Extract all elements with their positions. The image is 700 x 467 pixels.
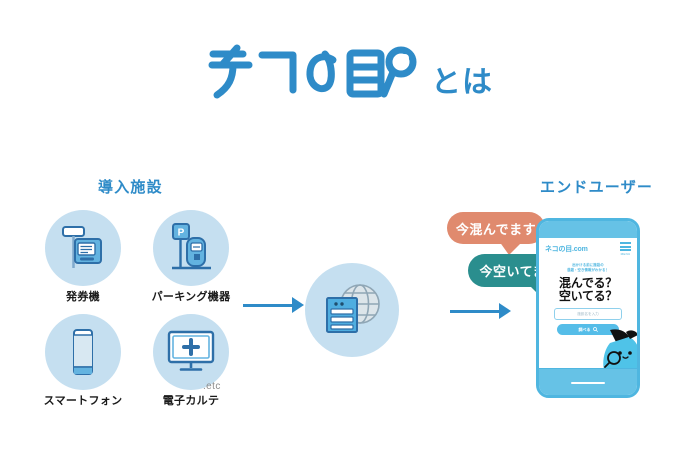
phone-search-button-label: 調べる	[579, 327, 591, 333]
etc-label: .etc	[203, 381, 221, 392]
facility-icon-row: 発券機 P パーキング機器	[38, 210, 238, 304]
speech-bubble-busy: 今混んでます	[447, 212, 545, 244]
infographic-canvas: とは 導入施設 発券機	[0, 0, 700, 467]
facility-icon-row: スマートフォン 電子カルテ	[38, 314, 238, 408]
left-section-heading: 導入施設	[98, 176, 163, 197]
arrow-head	[292, 297, 304, 313]
server-disc	[305, 263, 399, 357]
arrow-shaft	[450, 310, 500, 313]
arrow-right-icon-1	[243, 297, 304, 313]
icon-disc	[153, 314, 229, 390]
smartphone-icon	[66, 327, 100, 377]
svg-text:P: P	[178, 228, 185, 239]
facility-item-ticket-machine[interactable]: 発券機	[38, 210, 128, 304]
icon-disc	[45, 210, 121, 286]
phone-home-bar-area	[539, 368, 637, 396]
ticket-machine-icon	[59, 223, 107, 273]
phone-micro-copy-line2: 混雑・空き情報がわかる！	[539, 268, 637, 273]
right-section-heading: エンドユーザー	[540, 176, 653, 197]
facility-item-smartphone[interactable]: スマートフォン	[38, 314, 128, 408]
neko-no-me-logo	[207, 46, 417, 102]
facility-item-label: 発券機	[66, 288, 100, 304]
facility-item-label: スマートフォン	[44, 392, 123, 408]
cat-mascot-icon	[596, 328, 637, 368]
arrow-shaft	[243, 304, 293, 307]
phone-headline: 混んでる？ 空いてる？	[539, 277, 637, 304]
phone-screen: ネコの目.com MENU 出かける前に施設の 混雑・空き情報がわかる！ 混んで…	[539, 238, 637, 368]
neko-no-me-logo-icon	[207, 44, 417, 102]
phone-search-input[interactable]: 施設名を入力	[554, 308, 622, 320]
speech-bubble-busy-text: 今混んでます	[456, 219, 536, 238]
home-indicator	[571, 382, 605, 384]
arrow-right-icon-2	[450, 303, 511, 319]
phone-headline-line2: 空いてる？	[539, 290, 637, 303]
phone-status-bar	[539, 221, 637, 238]
smartphone-mockup: ネコの目.com MENU 出かける前に施設の 混雑・空き情報がわかる！ 混んで…	[536, 218, 640, 398]
icon-disc	[45, 314, 121, 390]
page-title: とは	[0, 46, 700, 102]
phone-headline-line1: 混んでる？	[539, 277, 637, 290]
phone-app-header: ネコの目.com MENU	[539, 238, 637, 258]
facility-icon-grid: 発券機 P パーキング機器	[38, 210, 238, 408]
hamburger-bars	[620, 242, 631, 251]
menu-label: MENU	[621, 252, 631, 256]
parking-meter-icon: P	[167, 222, 215, 274]
arrow-head	[499, 303, 511, 319]
medical-monitor-icon	[165, 329, 217, 375]
server-globe-icon	[321, 281, 383, 339]
facility-item-label: パーキング機器	[152, 288, 231, 304]
hamburger-menu-icon[interactable]: MENU	[620, 242, 631, 256]
phone-micro-copy: 出かける前に施設の 混雑・空き情報がわかる！	[539, 263, 637, 274]
speech-bubble-tail	[499, 241, 523, 255]
phone-search-placeholder: 施設名を入力	[577, 312, 599, 317]
phone-app-logo: ネコの目.com	[545, 244, 588, 254]
icon-disc: P	[153, 210, 229, 286]
page-title-suffix: とは	[431, 68, 493, 102]
facility-item-parking[interactable]: P パーキング機器	[146, 210, 236, 304]
facility-item-label: 電子カルテ	[163, 392, 220, 408]
facility-item-medical-record[interactable]: 電子カルテ	[146, 314, 236, 408]
